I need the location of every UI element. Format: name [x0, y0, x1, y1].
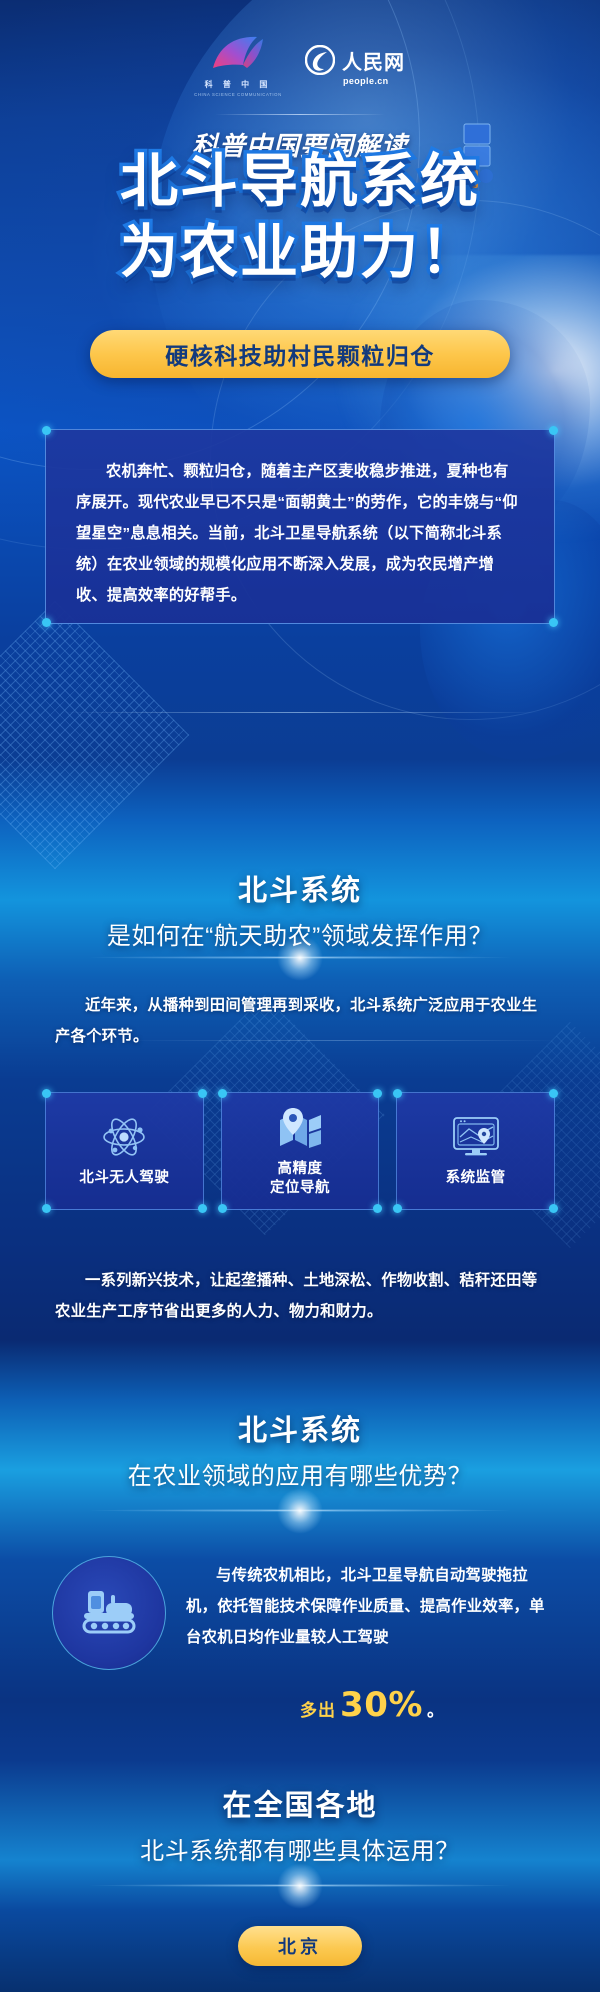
corner-dot	[198, 1089, 207, 1098]
corner-dot	[42, 1204, 51, 1213]
corner-dot	[218, 1089, 227, 1098]
section3-header: 在全国各地 北斗系统都有哪些具体运用？	[0, 1782, 600, 1866]
corner-dot	[42, 426, 51, 435]
people-cn-logo: 人民网 people.cn	[305, 45, 405, 86]
feature-card-label: 北斗无人驾驶	[79, 1169, 169, 1188]
corner-dot	[198, 1204, 207, 1213]
logo-row: 科 普 中 国 CHINA SCIENCE COMMUNICATION 人民网 …	[0, 0, 600, 97]
feature-card-high-precision-positioning[interactable]: 高精度定位导航	[221, 1092, 380, 1210]
kepu-china-logo: 科 普 中 国 CHINA SCIENCE COMMUNICATION	[195, 34, 281, 97]
section2-subheading: 在农业领域的应用有哪些优势？	[0, 1456, 600, 1491]
stat-value: 30%	[340, 1685, 423, 1725]
corner-dot	[42, 618, 51, 627]
section-flare	[90, 1509, 510, 1512]
tractor-icon-circle	[52, 1556, 166, 1670]
stat-prefix: 多出	[300, 1696, 336, 1721]
section1-closing-paragraph: 一系列新兴技术，让起垄播种、土地深松、作物收割、秸秆还田等农业生产工序节省出更多…	[55, 1265, 545, 1327]
intro-paragraph: 农机奔忙、颗粒归仓，随着主产区麦收稳步推进，夏种也有序展开。现代农业早已不只是“…	[76, 456, 524, 611]
section1-header: 北斗系统 是如何在“航天助农”领域发挥作用？	[0, 867, 600, 951]
hero-title: 北斗导航系统 为农业助力！	[0, 150, 600, 286]
page-header: 科 普 中 国 CHINA SCIENCE COMMUNICATION 人民网 …	[0, 0, 600, 163]
feature-card-list: 北斗无人驾驶 高精度定位导航	[45, 1092, 555, 1210]
section-flare	[90, 1884, 510, 1887]
hero-subtitle-text: 硬核科技助村民颗粒归仓	[165, 337, 435, 371]
corner-dot	[549, 618, 558, 627]
hero-title-line1: 北斗导航系统	[0, 150, 600, 215]
section-flare	[90, 956, 510, 959]
section1-lead-paragraph: 近年来，从播种到田间管理再到采收，北斗系统广泛应用于农业生产各个环节。	[55, 990, 545, 1052]
kepu-wing-icon	[209, 34, 267, 76]
stat-suffix: 。	[427, 1696, 444, 1721]
section3-heading: 在全国各地	[0, 1782, 600, 1824]
feature-card-autonomous-driving[interactable]: 北斗无人驾驶	[45, 1092, 204, 1210]
people-logo-cn: 人民网	[342, 46, 405, 75]
light-streak	[60, 712, 540, 713]
feature-card-label: 高精度定位导航	[270, 1160, 330, 1198]
section1-heading: 北斗系统	[0, 867, 600, 909]
corner-dot	[393, 1089, 402, 1098]
corner-dot	[549, 1089, 558, 1098]
section2-paragraph: 与传统农机相比，北斗卫星导航自动驾驶拖拉机，依托智能技术保障作业质量、提高作业效…	[186, 1560, 558, 1653]
map-pin-icon	[276, 1105, 324, 1151]
section2-heading: 北斗系统	[0, 1407, 600, 1449]
kepu-logo-en: CHINA SCIENCE COMMUNICATION	[194, 92, 282, 97]
intro-text-box: 农机奔忙、颗粒归仓，随着主产区麦收稳步推进，夏种也有序展开。现代农业早已不只是“…	[45, 429, 555, 624]
section2-stat: 多出 30% 。	[186, 1685, 558, 1725]
mesh-decoration	[0, 601, 189, 870]
section2-header: 北斗系统 在农业领域的应用有哪些优势？	[0, 1407, 600, 1491]
hero-title-line2: 为农业助力！	[0, 221, 600, 286]
corner-dot	[218, 1204, 227, 1213]
kepu-logo-cn: 科 普 中 国	[205, 79, 272, 90]
city-pill-label: 北京	[278, 1933, 322, 1959]
people-globe-icon	[305, 45, 335, 75]
corner-dot	[549, 1204, 558, 1213]
feature-card-label: 系统监管	[446, 1169, 506, 1188]
corner-dot	[549, 426, 558, 435]
header-divider	[215, 114, 385, 115]
corner-dot	[42, 1089, 51, 1098]
section1-subheading: 是如何在“航天助农”领域发挥作用？	[0, 916, 600, 951]
atom-icon	[101, 1114, 147, 1160]
city-pill-beijing[interactable]: 北京	[238, 1926, 362, 1966]
people-logo-en: people.cn	[343, 76, 389, 86]
hero-subtitle-pill: 硬核科技助村民颗粒归仓	[90, 330, 510, 378]
corner-dot	[373, 1089, 382, 1098]
section3-subheading: 北斗系统都有哪些具体运用？	[0, 1831, 600, 1866]
feature-card-system-supervision[interactable]: 系统监管	[396, 1092, 555, 1210]
monitor-map-icon	[451, 1114, 501, 1160]
tractor-icon	[76, 1587, 142, 1639]
